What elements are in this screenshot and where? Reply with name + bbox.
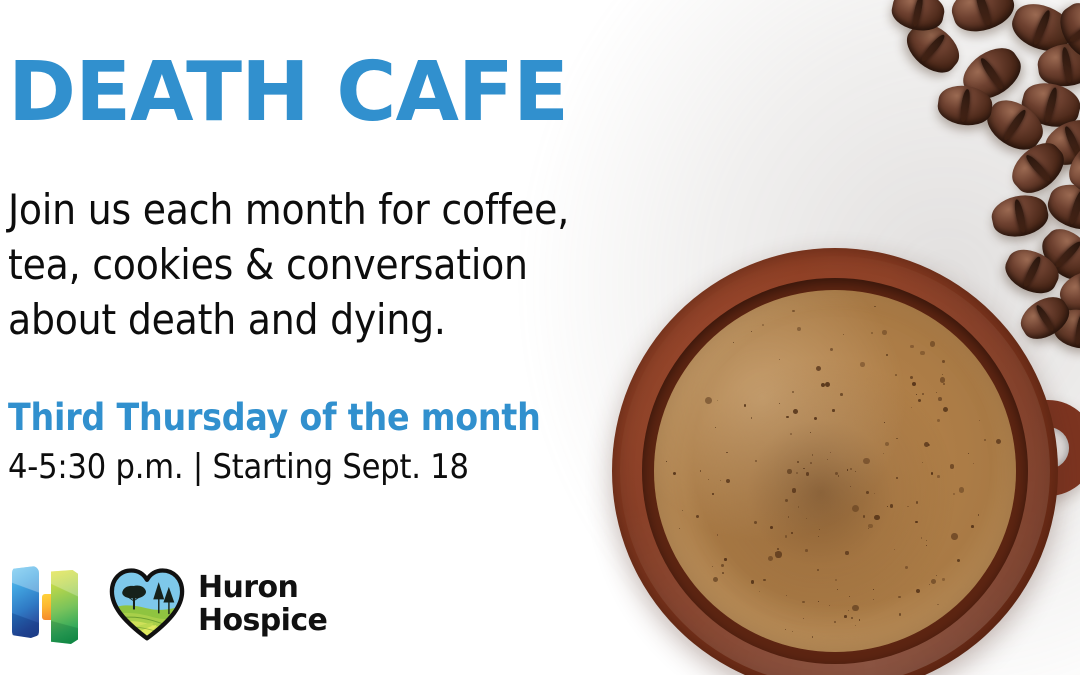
h-mark-left-panel	[12, 566, 39, 638]
mug-body	[612, 248, 1058, 675]
mug-rim-highlight	[620, 256, 1050, 675]
coffee-bean	[1051, 306, 1080, 352]
heart-landscape-icon	[108, 565, 186, 643]
coffee-bean	[1039, 112, 1080, 172]
coffee-bean	[899, 15, 968, 82]
coffee-bean	[1061, 132, 1080, 198]
huron-hospice-wordmark: Huron Hospice	[198, 571, 327, 637]
poster-description: Join us each month for coffee, tea, cook…	[8, 182, 668, 347]
coffee-bean	[1014, 289, 1075, 346]
coffee-bean	[936, 82, 995, 128]
death-cafe-poster: DEATH CAFE Join us each month for coffee…	[0, 0, 1080, 675]
coffee-bean	[1051, 0, 1080, 67]
logo-row: Huron Hospice	[8, 560, 327, 648]
coffee-bean	[1018, 78, 1080, 133]
coffee-bean	[1055, 264, 1080, 319]
schedule-time: 4-5:30 p.m. | Starting Sept. 18	[8, 446, 469, 488]
coffee-bean	[979, 91, 1051, 158]
description-line-1: Join us each month for coffee,	[8, 182, 668, 237]
schedule-recurrence: Third Thursday of the month	[8, 396, 541, 440]
mug-handle	[984, 400, 1080, 496]
coffee-bean	[955, 39, 1029, 108]
coffee-bean	[999, 242, 1065, 301]
page-title: DEATH CAFE	[8, 52, 568, 134]
mug-inner-ring	[642, 278, 1028, 664]
description-line-3: about death and dying.	[8, 292, 668, 347]
wordmark-line-1: Huron	[198, 571, 327, 604]
coffee-bean	[988, 191, 1051, 242]
wordmark-line-2: Hospice	[198, 604, 327, 637]
coffee-bean	[1006, 0, 1078, 59]
coffee-bean	[889, 0, 948, 35]
coffee-bean	[947, 0, 1020, 39]
coffee-crema	[654, 290, 1016, 652]
poster-text-column: DEATH CAFE Join us each month for coffee…	[8, 0, 668, 675]
coffee-bean	[1035, 40, 1080, 90]
huron-hospice-h-mark-icon	[12, 564, 78, 644]
coffee-mug	[612, 248, 1080, 675]
description-line-2: tea, cookies & conversation	[8, 237, 668, 292]
coffee-bean	[1004, 134, 1072, 201]
h-mark-right-panel	[51, 570, 78, 644]
coffee-bean	[1034, 220, 1080, 288]
crema-bubbles	[654, 290, 1016, 652]
coffee-bean	[1043, 178, 1080, 236]
